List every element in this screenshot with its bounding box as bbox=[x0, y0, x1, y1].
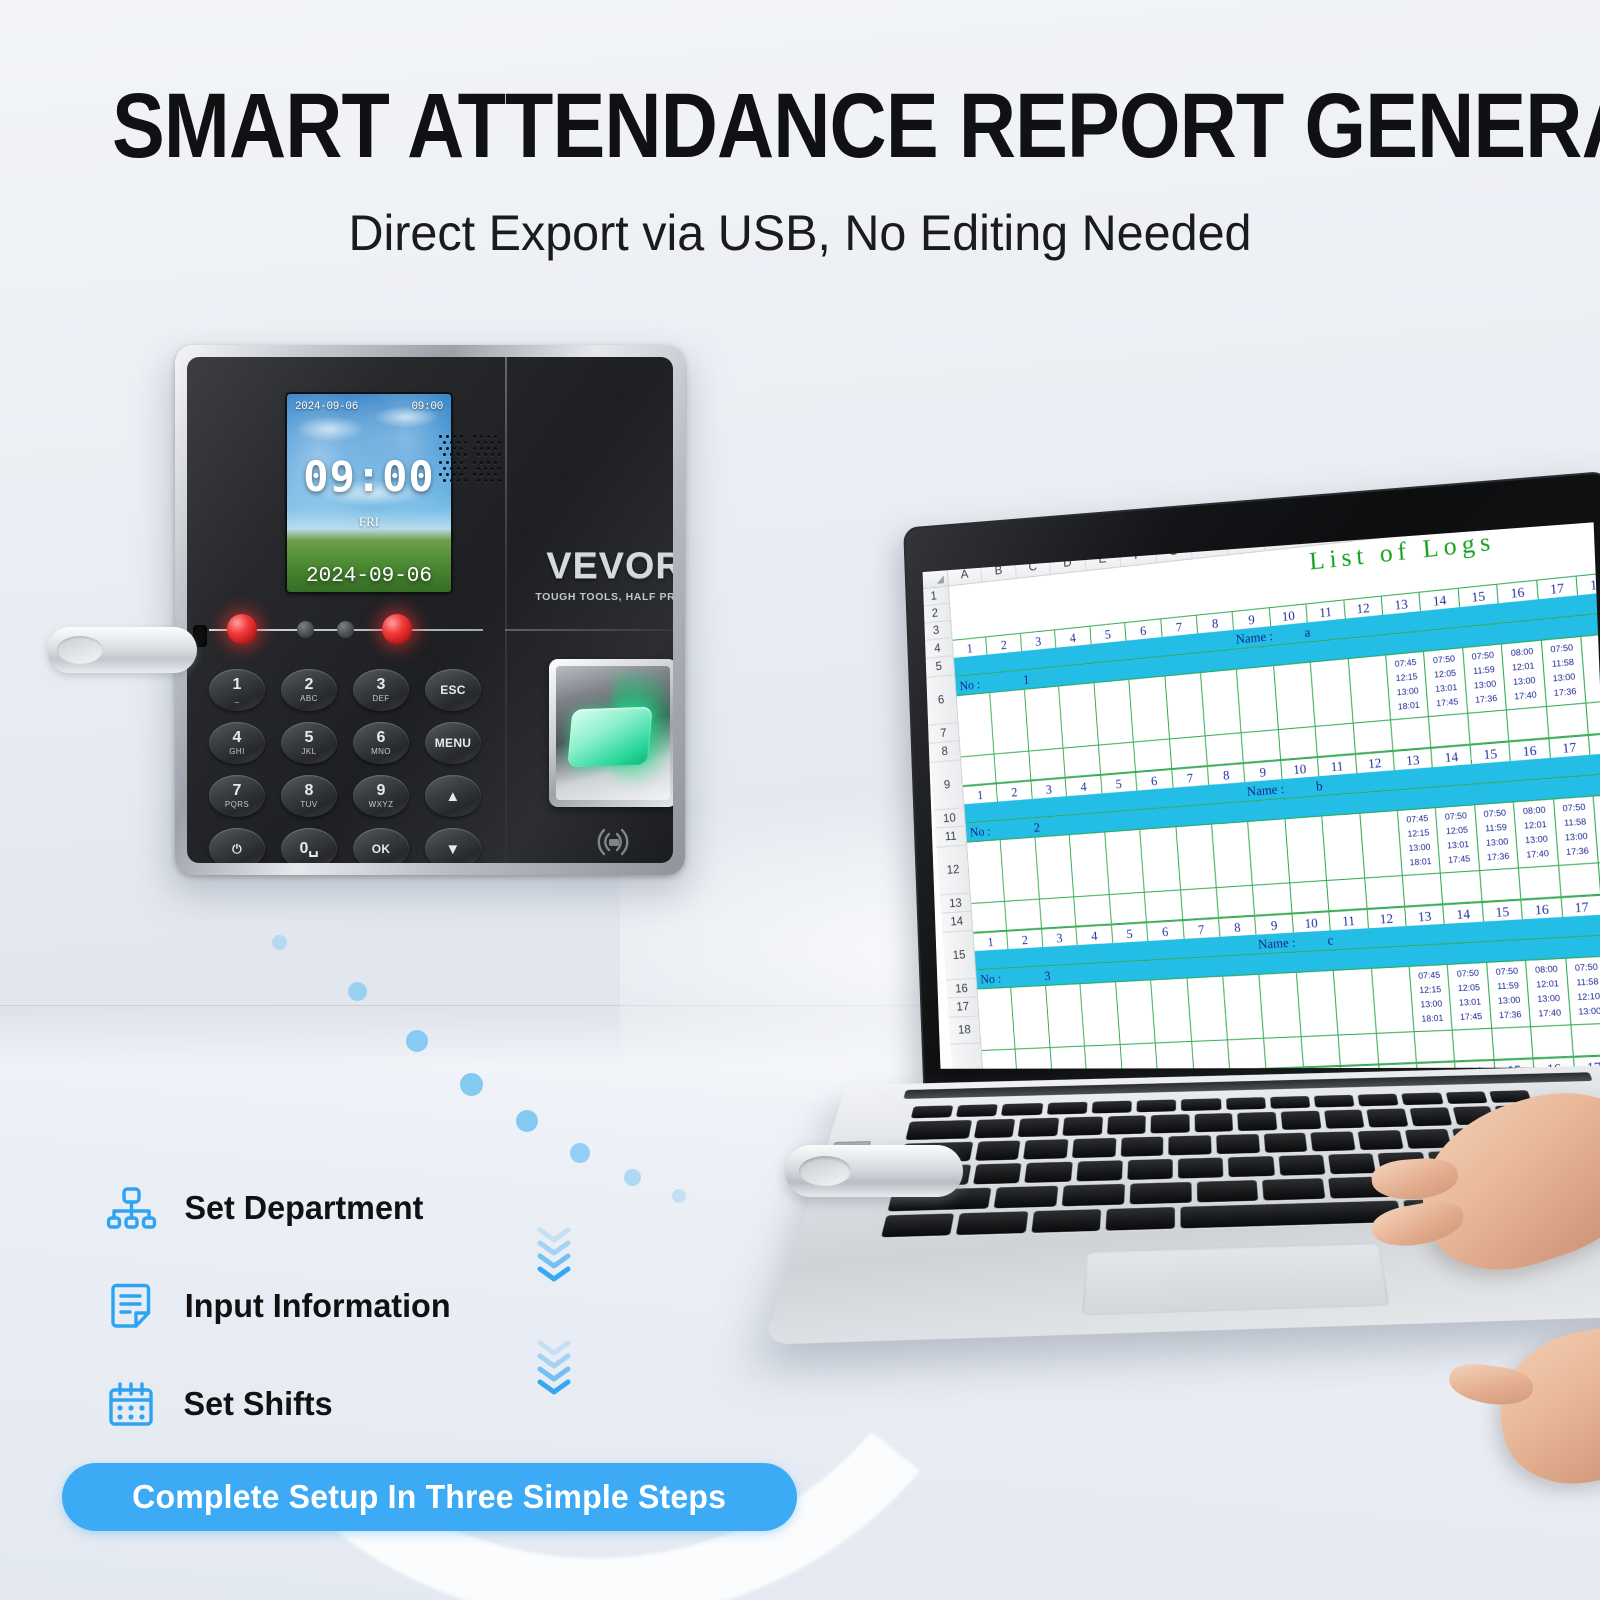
speaker-hole bbox=[498, 453, 501, 456]
keyboard-key[interactable] bbox=[975, 1140, 1021, 1160]
punch-time-cell[interactable] bbox=[1187, 977, 1228, 1042]
punch-time-cell[interactable] bbox=[1201, 670, 1242, 737]
punch-time-cell[interactable] bbox=[1105, 830, 1145, 895]
punch-time-cell[interactable] bbox=[1348, 655, 1391, 723]
punch-time-cell[interactable] bbox=[1151, 978, 1191, 1043]
empty-cell[interactable] bbox=[1441, 871, 1482, 903]
speaker-hole bbox=[464, 467, 467, 470]
keyboard-key[interactable] bbox=[911, 1105, 954, 1118]
speaker-hole bbox=[446, 447, 449, 450]
key-menu[interactable]: MENU bbox=[425, 722, 481, 764]
empty-cell[interactable] bbox=[1571, 1024, 1600, 1056]
device-keypad[interactable]: 1_2ABC3DEFESC4GHI5JKL6MNOMENU7PQRS8TUV9W… bbox=[209, 669, 489, 863]
keyboard-key[interactable] bbox=[1238, 1112, 1278, 1131]
key-sublabel: JKL bbox=[302, 748, 317, 756]
empty-cell[interactable] bbox=[1316, 724, 1356, 756]
row-header[interactable]: 13 bbox=[940, 893, 971, 913]
empty-cell[interactable] bbox=[1074, 895, 1111, 926]
fingerprint-sensor[interactable] bbox=[549, 659, 673, 807]
empty-cell[interactable] bbox=[1170, 736, 1208, 768]
keyboard-key[interactable] bbox=[956, 1211, 1028, 1235]
speaker-hole bbox=[494, 435, 497, 438]
attendance-device: 2024-09-06 09:00 09:00 FRI 2024-09-06 1_… bbox=[175, 345, 700, 890]
key-label: 7 bbox=[233, 783, 242, 799]
key-label: ▼ bbox=[445, 842, 460, 857]
keyboard-key[interactable] bbox=[1445, 1091, 1487, 1104]
punch-time-cell[interactable] bbox=[1223, 975, 1264, 1041]
empty-cell[interactable] bbox=[982, 1050, 1018, 1069]
key-[interactable]: ▲ bbox=[425, 775, 481, 817]
feature-label: Input Information bbox=[185, 1287, 451, 1325]
speaker-hole bbox=[473, 461, 476, 464]
punch-time-cell[interactable] bbox=[1322, 814, 1364, 881]
speaker-hole bbox=[460, 473, 463, 476]
laptop-lid: ABCDEFGHIJKLMNOPQRSTU 123456789101112131… bbox=[903, 471, 1600, 1101]
punch-time-cell[interactable] bbox=[1165, 673, 1206, 739]
keyboard-key[interactable] bbox=[1181, 1098, 1221, 1111]
empty-cell[interactable] bbox=[1290, 881, 1329, 913]
speaker-hole bbox=[457, 441, 460, 444]
keyboard-key[interactable] bbox=[881, 1213, 955, 1237]
punch-time-cell[interactable] bbox=[1001, 838, 1040, 902]
speaker-hole bbox=[460, 447, 463, 450]
empty-cell[interactable] bbox=[1253, 883, 1292, 914]
empty-cell[interactable] bbox=[1415, 1031, 1456, 1062]
day-number-cell: 14 bbox=[1456, 1061, 1496, 1069]
key-3[interactable]: 3DEF bbox=[353, 669, 409, 711]
keyboard-key[interactable] bbox=[1367, 1108, 1409, 1127]
key-[interactable]: ⏻ bbox=[209, 828, 265, 863]
face-divider-vertical bbox=[505, 357, 507, 863]
keyboard-key[interactable] bbox=[1324, 1110, 1365, 1129]
keyboard-key[interactable] bbox=[1047, 1102, 1088, 1115]
key-label: ESC bbox=[440, 684, 466, 696]
punch-time-cell[interactable] bbox=[1285, 816, 1327, 883]
keyboard-key[interactable] bbox=[1410, 1107, 1452, 1126]
keyboard-key[interactable] bbox=[1092, 1101, 1132, 1114]
empty-cell[interactable] bbox=[1181, 888, 1219, 919]
empty-cell[interactable] bbox=[1507, 707, 1549, 740]
row-header[interactable]: 6 bbox=[925, 675, 958, 725]
feature-label: Set Shifts bbox=[184, 1385, 333, 1423]
day-number-cell: 8 bbox=[1219, 917, 1257, 937]
day-number-cell: 4 bbox=[1077, 925, 1113, 945]
empty-cell[interactable] bbox=[1156, 1042, 1194, 1069]
key-label: 0␣ bbox=[299, 841, 318, 857]
punch-time-cell[interactable] bbox=[1070, 832, 1110, 897]
led-indicator-2 bbox=[337, 621, 354, 638]
day-number-cell: 6 bbox=[1147, 921, 1184, 941]
keyboard-key[interactable] bbox=[993, 1186, 1058, 1209]
punch-time-cell[interactable] bbox=[1311, 659, 1353, 727]
keyboard-key[interactable] bbox=[1151, 1114, 1190, 1133]
key-0[interactable]: 0␣ bbox=[281, 828, 337, 863]
key-7[interactable]: 7PQRS bbox=[209, 775, 265, 817]
speaker-hole bbox=[439, 461, 442, 464]
punch-time-cell[interactable] bbox=[1035, 835, 1074, 900]
speaker-hole bbox=[487, 447, 490, 450]
empty-cell[interactable] bbox=[1192, 1040, 1230, 1068]
speaker-hole bbox=[446, 473, 449, 476]
empty-cell[interactable] bbox=[1377, 1032, 1417, 1063]
keyboard-key[interactable] bbox=[1129, 1182, 1191, 1204]
keyboard-key[interactable] bbox=[1216, 1134, 1259, 1154]
row-header[interactable]: 9 bbox=[931, 760, 964, 810]
speaker-hole bbox=[453, 473, 456, 476]
no-label: No : bbox=[969, 823, 991, 840]
key-label: ▲ bbox=[445, 789, 460, 804]
speaker-hole bbox=[484, 467, 487, 470]
empty-cell[interactable] bbox=[1403, 874, 1444, 906]
transfer-dot bbox=[624, 1169, 641, 1186]
punch-time-cell[interactable]: 07:5012:0513:0117:45 bbox=[1425, 648, 1469, 717]
spreadsheet[interactable]: ABCDEFGHIJKLMNOPQRSTU 123456789101112131… bbox=[923, 522, 1600, 1068]
key-sublabel: _ bbox=[235, 695, 240, 703]
punch-time-cell[interactable] bbox=[1260, 973, 1302, 1039]
empty-cell[interactable] bbox=[1429, 714, 1470, 747]
punch-time-cell[interactable] bbox=[1212, 822, 1253, 888]
row-header[interactable]: 18 bbox=[949, 1016, 981, 1044]
keyboard-key[interactable] bbox=[1062, 1184, 1125, 1207]
row-header[interactable]: 11 bbox=[935, 826, 966, 847]
empty-cell[interactable] bbox=[961, 754, 997, 785]
brand-tagline: TOUGH TOOLS, HALF PRICE bbox=[535, 591, 673, 603]
key-label: 2 bbox=[305, 677, 314, 693]
empty-cell[interactable] bbox=[1587, 700, 1600, 734]
keyboard-key[interactable] bbox=[1180, 1201, 1402, 1229]
key-5[interactable]: 5JKL bbox=[281, 722, 337, 764]
keyboard-key[interactable] bbox=[1023, 1139, 1068, 1159]
punch-time-cell[interactable]: 07:5011:5913:0017:36 bbox=[1487, 961, 1531, 1029]
empty-cell[interactable] bbox=[1050, 1047, 1087, 1069]
punch-time-cell[interactable]: 07:5011:5913:0017:36 bbox=[1475, 802, 1519, 871]
keyboard-key[interactable] bbox=[1228, 1156, 1274, 1177]
spreadsheet-body: 123456789101112131415161718 List of Logs… bbox=[923, 522, 1600, 1068]
day-number-cell: 9 bbox=[1255, 914, 1293, 934]
punch-time-cell[interactable] bbox=[1094, 680, 1134, 746]
fingerprint-sensor-inner bbox=[556, 666, 670, 800]
empty-cell[interactable] bbox=[995, 752, 1031, 783]
keyboard-key[interactable] bbox=[1281, 1111, 1321, 1130]
keyboard-key[interactable] bbox=[1278, 1155, 1325, 1176]
speaker-hole bbox=[487, 473, 490, 476]
keyboard-key[interactable] bbox=[1270, 1096, 1310, 1109]
keyboard-key[interactable] bbox=[1120, 1137, 1163, 1157]
page-title: SMART ATTENDANCE REPORT GENERATION bbox=[112, 80, 1488, 172]
key-sublabel: ABC bbox=[300, 695, 318, 703]
keyboard-key[interactable] bbox=[1263, 1178, 1326, 1200]
speaker-hole bbox=[446, 461, 449, 464]
empty-cell[interactable] bbox=[1559, 863, 1600, 896]
key-label: 8 bbox=[305, 783, 314, 799]
hand-left bbox=[1488, 1315, 1600, 1496]
empty-cell[interactable] bbox=[1120, 1043, 1158, 1068]
speaker-hole bbox=[477, 453, 480, 456]
day-number-cell: 1 bbox=[973, 932, 1008, 951]
spreadsheet-grid[interactable]: List of Logs 123456789101112131415161718… bbox=[949, 522, 1600, 1068]
cta-button[interactable]: Complete Setup In Three Simple Steps bbox=[62, 1463, 797, 1531]
punch-time-cell[interactable] bbox=[1176, 825, 1217, 891]
punch-time-cell[interactable]: 07:5011:5813:0017:36 bbox=[1554, 796, 1599, 866]
keyboard-key[interactable] bbox=[1127, 1159, 1173, 1180]
led-indicator-1 bbox=[297, 621, 314, 638]
speaker-hole bbox=[494, 461, 497, 464]
speaker-hole bbox=[443, 467, 446, 470]
speaker-hole bbox=[498, 441, 501, 444]
speaker-hole bbox=[480, 447, 483, 450]
day-number-cell: 13 bbox=[1405, 905, 1445, 926]
day-number-cell: 17 bbox=[1561, 896, 1600, 917]
record-name-value: a bbox=[1304, 624, 1311, 641]
keyboard-key[interactable] bbox=[1311, 1131, 1356, 1151]
key-6[interactable]: 6MNO bbox=[353, 722, 409, 764]
key-sublabel: TUV bbox=[300, 801, 317, 809]
punch-time-cell[interactable]: 07:5011:5812:1013:00 bbox=[1566, 957, 1600, 1026]
punch-time-cell[interactable] bbox=[1116, 980, 1156, 1045]
punch-time-cell[interactable] bbox=[991, 690, 1030, 755]
empty-cell[interactable] bbox=[1134, 739, 1172, 771]
empty-cell[interactable] bbox=[1480, 869, 1522, 901]
row-header[interactable]: 12 bbox=[937, 846, 970, 896]
lcd-status-time: 09:00 bbox=[411, 401, 443, 413]
punch-time-cell[interactable] bbox=[1360, 811, 1403, 879]
speaker-hole bbox=[477, 479, 480, 482]
keyboard-key[interactable] bbox=[1106, 1207, 1175, 1231]
key-esc[interactable]: ESC bbox=[425, 669, 481, 711]
page-subtitle: Direct Export via USB, No Editing Needed bbox=[24, 204, 1576, 262]
keyboard-key[interactable] bbox=[1137, 1099, 1177, 1112]
key-4[interactable]: 4GHI bbox=[209, 722, 265, 764]
keyboard-key[interactable] bbox=[1358, 1130, 1404, 1150]
speaker-hole bbox=[477, 441, 480, 444]
empty-cell[interactable] bbox=[1265, 1037, 1304, 1068]
no-label: No : bbox=[980, 970, 1002, 987]
keyboard-key[interactable] bbox=[1076, 1160, 1123, 1181]
empty-cell[interactable] bbox=[1531, 1025, 1573, 1057]
keypad-row: 7PQRS8TUV9WXYZ▲ bbox=[209, 775, 489, 817]
empty-cell[interactable] bbox=[1519, 866, 1561, 899]
punch-time-cell[interactable] bbox=[1274, 663, 1316, 731]
day-number-cell: 16 bbox=[1522, 898, 1563, 919]
punch-time-cell[interactable] bbox=[1297, 971, 1339, 1037]
laptop-trackpad[interactable] bbox=[1082, 1242, 1390, 1315]
empty-cell[interactable] bbox=[1242, 730, 1281, 762]
record-name-value: b bbox=[1315, 777, 1323, 794]
punch-time-cell[interactable]: 07:4512:1513:0018:01 bbox=[1386, 652, 1429, 721]
empty-cell[interactable] bbox=[1353, 720, 1393, 753]
empty-cell[interactable] bbox=[1301, 1036, 1341, 1067]
day-number-cell: 18 bbox=[1589, 733, 1600, 755]
punch-time-cell[interactable] bbox=[977, 988, 1015, 1051]
keyboard-key[interactable] bbox=[1264, 1133, 1308, 1153]
punch-time-cell[interactable]: 08:0012:0113:0017:40 bbox=[1502, 641, 1547, 711]
row-header[interactable]: 17 bbox=[947, 997, 978, 1018]
device-face: 2024-09-06 09:00 09:00 FRI 2024-09-06 1_… bbox=[187, 357, 673, 863]
key-sublabel: DEF bbox=[372, 695, 389, 703]
punch-time-cell[interactable] bbox=[1012, 986, 1051, 1050]
keyboard-key[interactable] bbox=[974, 1119, 1016, 1138]
row-header[interactable]: 10 bbox=[934, 808, 965, 828]
empty-cell[interactable] bbox=[1492, 1027, 1534, 1059]
punch-time-cell[interactable] bbox=[1129, 676, 1169, 742]
keyboard-key[interactable] bbox=[905, 1120, 971, 1140]
empty-cell[interactable] bbox=[1468, 710, 1509, 743]
punch-time-cell[interactable] bbox=[1334, 969, 1377, 1036]
punch-time-cell[interactable] bbox=[1081, 982, 1121, 1046]
keyboard-key[interactable] bbox=[1402, 1093, 1444, 1106]
record-no-value: 1 bbox=[1023, 671, 1030, 687]
punch-time-cell[interactable] bbox=[1237, 666, 1278, 733]
empty-cell[interactable] bbox=[971, 902, 1007, 932]
punch-time-cell[interactable] bbox=[1372, 967, 1415, 1034]
keyboard-key[interactable] bbox=[1031, 1209, 1101, 1233]
key-9[interactable]: 9WXYZ bbox=[353, 775, 409, 817]
empty-cell[interactable] bbox=[1453, 1029, 1494, 1061]
keyboard-key[interactable] bbox=[1025, 1162, 1073, 1183]
keyboard-key[interactable] bbox=[1062, 1117, 1102, 1136]
speaker-hole bbox=[491, 453, 494, 456]
speaker-hole bbox=[464, 479, 467, 482]
empty-cell[interactable] bbox=[1327, 879, 1367, 911]
empty-cell[interactable] bbox=[1029, 749, 1066, 780]
speaker-hole bbox=[480, 461, 483, 464]
empty-cell[interactable] bbox=[1391, 717, 1432, 750]
feature-label: Set Department bbox=[184, 1189, 423, 1227]
cloud-shape bbox=[295, 416, 365, 442]
punch-time-cell[interactable]: 08:0012:0113:0017:40 bbox=[1526, 959, 1571, 1027]
punch-time-cell[interactable] bbox=[967, 840, 1005, 904]
speaker-hole bbox=[439, 435, 442, 438]
day-number-cell: 12 bbox=[1367, 908, 1406, 929]
empty-cell[interactable] bbox=[1109, 893, 1146, 924]
keyboard-key[interactable] bbox=[1328, 1153, 1376, 1174]
keyboard-key[interactable] bbox=[956, 1104, 998, 1117]
row-header[interactable]: 14 bbox=[941, 912, 972, 933]
keypad-row: 1_2ABC3DEFESC bbox=[209, 669, 489, 711]
keyboard-key[interactable] bbox=[1178, 1158, 1224, 1179]
speaker-hole bbox=[457, 453, 460, 456]
keyboard-key[interactable] bbox=[1194, 1113, 1233, 1132]
no-label: No : bbox=[959, 676, 981, 693]
speaker-hole bbox=[453, 447, 456, 450]
empty-cell[interactable] bbox=[1064, 746, 1101, 777]
key-sublabel: GHI bbox=[229, 748, 244, 756]
empty-cell[interactable] bbox=[1145, 890, 1183, 921]
keyboard-key[interactable] bbox=[1169, 1135, 1212, 1155]
punch-time-cell[interactable] bbox=[957, 693, 995, 757]
row-header[interactable]: 16 bbox=[946, 979, 977, 999]
empty-cell[interactable] bbox=[1279, 727, 1318, 759]
punch-time-cell[interactable]: 07:5012:0513:0117:45 bbox=[1448, 963, 1492, 1031]
empty-cell[interactable] bbox=[1085, 1045, 1122, 1069]
keyboard-key[interactable] bbox=[1196, 1180, 1258, 1202]
speaker-hole bbox=[460, 435, 463, 438]
hero-header: SMART ATTENDANCE REPORT GENERATION Direc… bbox=[0, 0, 1600, 262]
fingerprint-pad[interactable] bbox=[567, 707, 652, 768]
key-label: ⏻ bbox=[232, 843, 242, 855]
keyboard-key[interactable] bbox=[1072, 1138, 1116, 1158]
empty-cell[interactable] bbox=[1040, 897, 1077, 927]
name-label: Name : bbox=[1258, 934, 1297, 952]
device-lcd-screen: 2024-09-06 09:00 09:00 FRI 2024-09-06 bbox=[287, 394, 451, 592]
speaker-hole bbox=[443, 479, 446, 482]
feature-list: Set Department Input Information Set bbox=[100, 1175, 620, 1469]
speaker-hole bbox=[473, 473, 476, 476]
speaker-hole bbox=[484, 479, 487, 482]
punch-time-cell[interactable]: 08:0012:0113:0017:40 bbox=[1514, 799, 1559, 868]
speaker-hole bbox=[498, 479, 501, 482]
row-header[interactable]: 15 bbox=[943, 931, 976, 981]
lcd-date: 2024-09-06 bbox=[295, 565, 443, 588]
speaker-hole bbox=[484, 453, 487, 456]
rfid-card-icon bbox=[584, 825, 642, 859]
chevron-group-top bbox=[535, 1225, 573, 1277]
empty-cell[interactable] bbox=[1547, 704, 1589, 738]
keyboard-key[interactable] bbox=[973, 1163, 1022, 1184]
key-ok[interactable]: OK bbox=[353, 828, 409, 863]
key-sublabel: WXYZ bbox=[369, 801, 394, 809]
lcd-status-date: 2024-09-06 bbox=[295, 401, 358, 413]
key-2[interactable]: 2ABC bbox=[281, 669, 337, 711]
speaker-hole bbox=[450, 441, 453, 444]
punch-time-cell[interactable]: 07:4512:1513:0018:01 bbox=[1410, 965, 1453, 1032]
empty-cell[interactable] bbox=[1217, 886, 1256, 917]
key-label: 3 bbox=[377, 677, 386, 693]
key-1[interactable]: 1_ bbox=[209, 669, 265, 711]
empty-cell[interactable] bbox=[1365, 876, 1405, 908]
row-header[interactable]: 8 bbox=[929, 741, 960, 763]
punch-time-cell[interactable] bbox=[1025, 686, 1064, 751]
keyboard-key[interactable] bbox=[1358, 1094, 1399, 1107]
punch-time-cell[interactable] bbox=[1249, 819, 1291, 886]
punch-time-cell[interactable]: 07:5011:5913:0017:36 bbox=[1463, 644, 1507, 713]
led-red-right bbox=[382, 614, 412, 644]
empty-cell[interactable] bbox=[1099, 742, 1136, 773]
keyboard-key[interactable] bbox=[1018, 1118, 1059, 1137]
key-[interactable]: ▼ bbox=[425, 828, 481, 863]
usb-drive-laptop[interactable] bbox=[785, 1145, 963, 1197]
empty-cell[interactable] bbox=[1005, 900, 1041, 930]
empty-cell[interactable] bbox=[1206, 733, 1244, 765]
empty-cell[interactable] bbox=[1016, 1048, 1052, 1069]
empty-cell[interactable] bbox=[1228, 1039, 1267, 1069]
key-8[interactable]: 8TUV bbox=[281, 775, 337, 817]
speaker-hole bbox=[473, 435, 476, 438]
punch-time-cell[interactable]: 07:5012:0513:0117:45 bbox=[1436, 805, 1480, 873]
empty-cell[interactable] bbox=[1339, 1034, 1379, 1065]
usb-drive-device[interactable] bbox=[47, 627, 197, 673]
device-bezel: 2024-09-06 09:00 09:00 FRI 2024-09-06 1_… bbox=[175, 345, 685, 875]
speaker-hole bbox=[453, 461, 456, 464]
punch-time-cell[interactable] bbox=[1059, 683, 1098, 748]
punch-time-cell[interactable]: 07:4512:1513:0018:01 bbox=[1398, 808, 1441, 876]
keyboard-key[interactable] bbox=[1314, 1095, 1355, 1108]
keyboard-key[interactable] bbox=[1226, 1097, 1266, 1110]
speaker-hole bbox=[477, 467, 480, 470]
speaker-hole bbox=[453, 435, 456, 438]
key-label: 6 bbox=[377, 730, 386, 746]
punch-time-cell[interactable] bbox=[1140, 827, 1180, 893]
punch-time-cell[interactable]: 07:5011:5813:0017:36 bbox=[1542, 637, 1587, 707]
punch-time-cell[interactable] bbox=[1046, 984, 1085, 1048]
keyboard-key[interactable] bbox=[1001, 1103, 1042, 1116]
key-label: OK bbox=[372, 843, 391, 855]
keyboard-key[interactable] bbox=[1107, 1115, 1146, 1134]
speaker-hole bbox=[480, 435, 483, 438]
speaker-hole bbox=[443, 453, 446, 456]
speaker-hole bbox=[457, 479, 460, 482]
lcd-status-bar: 2024-09-06 09:00 bbox=[295, 401, 443, 413]
